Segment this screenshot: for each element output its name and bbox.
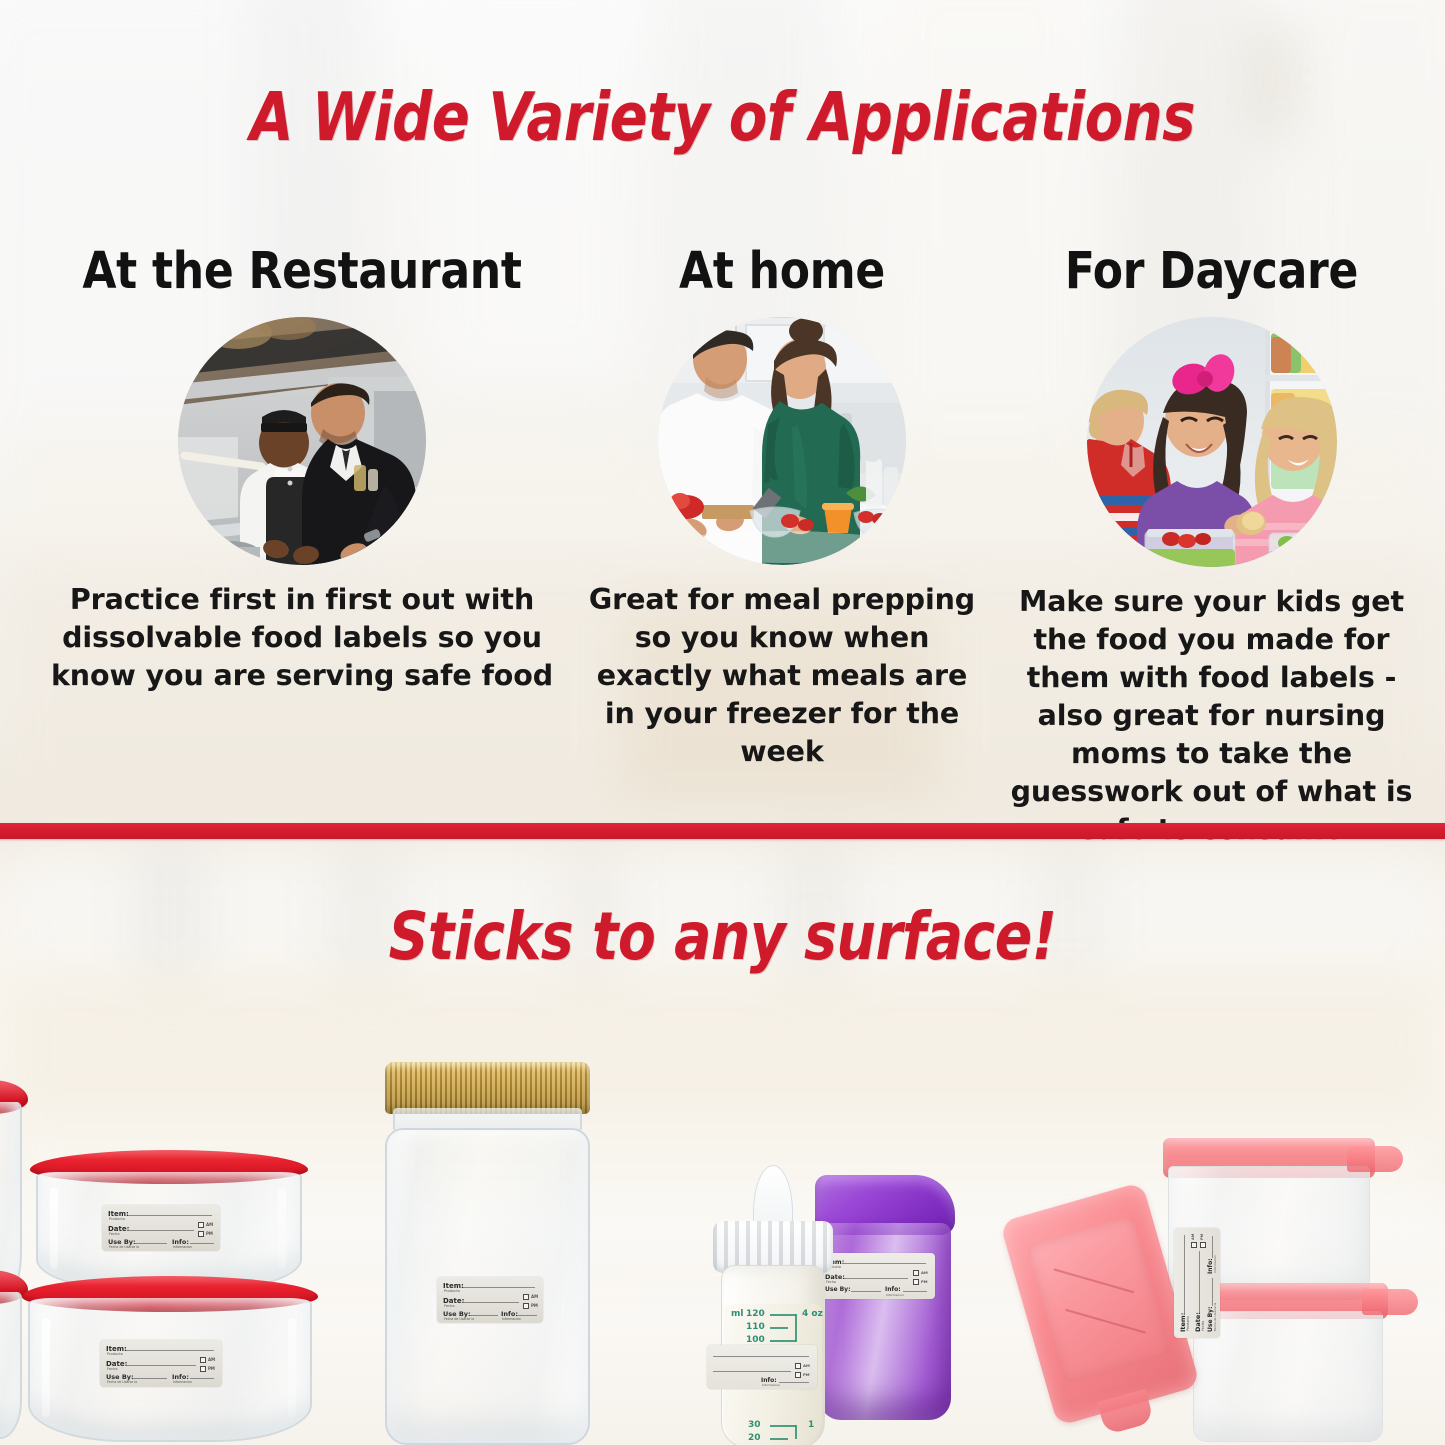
food-label-sticker: AM PM Info: Informacion	[707, 1345, 817, 1389]
sticker-date-sub: Fecha	[107, 1368, 118, 1372]
sticker-info-sub: Informacion	[886, 1294, 904, 1297]
lid-inner-panel	[1026, 1216, 1171, 1385]
photo-restaurant-kitchen	[178, 317, 426, 565]
sticker-pm-checkbox	[523, 1303, 529, 1309]
sticker-info-sub: Informacion	[173, 1246, 192, 1249]
sticker-am-checkbox	[523, 1294, 529, 1300]
sticker-date-sub: Fecha	[109, 1233, 120, 1237]
food-label-sticker: Item: Producto Date: Fecha AM PM Use By:…	[819, 1253, 935, 1299]
page-title: A Wide Variety of Applications	[51, 78, 1395, 156]
sticker-item-sub: Producto	[109, 1218, 125, 1222]
column-heading-daycare: For Daycare	[1008, 243, 1416, 301]
product-infographic-page: A Wide Variety of Applications At the Re…	[0, 0, 1445, 1445]
column-body-home: Great for meal prepping so you know when…	[582, 581, 982, 771]
applications-columns: At the Restaurant	[0, 243, 1445, 803]
purple-sippy-cup: Item: Producto Date: Fecha AM PM Use By:…	[815, 1175, 955, 1420]
product-showcase: Item: Producto Date: Fecha AM PM Use By:…	[0, 1020, 1445, 1445]
column-heading-restaurant: At the Restaurant	[52, 243, 551, 301]
plastic-body-bottom	[1193, 1311, 1383, 1442]
bottle-mark-110: 110	[746, 1323, 765, 1332]
sticker-useby-sub: Fecha de Usarse la	[109, 1246, 139, 1249]
food-label-sticker-rotated: Item: Producto Date: Fecha AM PM Use By:…	[1174, 1228, 1220, 1338]
column-heading-home: At home	[590, 243, 974, 301]
sticker-date-sub: Fecha	[444, 1305, 455, 1309]
lid-tab-bottom	[1362, 1289, 1418, 1315]
sticker-pm-label: PM	[208, 1367, 215, 1371]
sticker-pm-label: PM	[803, 1373, 810, 1377]
bottle-oz-label: 4 oz	[802, 1310, 823, 1319]
photo-couple-cooking	[658, 317, 906, 565]
bottle-lower-oz: 1	[808, 1421, 814, 1430]
sticker-useby-sub: Fecha de Usarse la	[1214, 1303, 1217, 1331]
food-label-sticker: Item: Producto Date: Fecha AM PM Use By:…	[437, 1277, 543, 1323]
sticker-item-sub: Producto	[444, 1290, 460, 1294]
application-column-daycare: For Daycare	[999, 243, 1424, 849]
food-label-sticker: Item: Producto Date: Fecha AM PM Use By:…	[100, 1340, 222, 1387]
sticker-am-label: AM	[803, 1364, 810, 1368]
sticker-pm-checkbox	[795, 1372, 801, 1378]
sticker-pm-label: PM	[531, 1304, 538, 1308]
sticker-am-checkbox	[198, 1222, 204, 1228]
section-two-title: Sticks to any surface!	[51, 898, 1395, 975]
sticker-useby-sub: Fecha de Usarse la	[107, 1381, 137, 1384]
sticker-am-label: AM	[531, 1295, 538, 1299]
sticker-info-sub: Informacion	[762, 1384, 780, 1387]
square-mason-jar: Item: Producto Date: Fecha AM PM Use By:…	[385, 1062, 590, 1445]
sticker-am-label: AM	[1192, 1234, 1196, 1240]
application-column-restaurant: At the Restaurant	[42, 243, 562, 695]
sticker-am-checkbox	[913, 1270, 919, 1276]
bottle-mark-100: 100	[746, 1336, 765, 1345]
sticker-am-checkbox	[1191, 1242, 1197, 1248]
lid-tab-top	[1347, 1146, 1403, 1172]
sticker-am-checkbox	[795, 1363, 801, 1369]
sticker-item-sub: Producto	[1187, 1316, 1190, 1331]
photo-children-lunch	[1087, 317, 1337, 567]
sticker-am-label: AM	[208, 1358, 215, 1362]
bottle-mark-120: 120	[746, 1310, 765, 1319]
sticker-pm-checkbox	[200, 1366, 206, 1372]
sticker-am-label: AM	[921, 1271, 928, 1275]
food-label-sticker: Item: Producto Date: Fecha AM PM Use By:…	[102, 1205, 220, 1251]
sticker-pm-checkbox	[1200, 1242, 1206, 1248]
sticker-am-label: AM	[206, 1223, 213, 1227]
glass-round-container-bottom: Item: Producto Date: Fecha AM PM Use By:…	[22, 1276, 318, 1445]
bottle-mark-30: 30	[748, 1421, 761, 1430]
column-body-restaurant: Practice first in first out with dissolv…	[42, 581, 562, 695]
sticker-pm-checkbox	[913, 1279, 919, 1285]
sticker-date-sub: Fecha	[1202, 1321, 1205, 1331]
sticker-info-sub: Informacion	[502, 1318, 521, 1321]
application-column-home: At home	[582, 243, 982, 771]
sticker-pm-label: PM	[921, 1280, 928, 1284]
baby-bottle: ml 120 110 100 ml 4 oz 30 20 1	[713, 1165, 833, 1445]
sticker-useby-sub: Fecha de Usarse la	[444, 1318, 474, 1321]
sticker-pm-label: PM	[1201, 1234, 1205, 1240]
sticker-item-sub: Producto	[107, 1353, 123, 1357]
sticker-info-sub: Informacion	[1214, 1255, 1217, 1273]
bottle-mark-20: 20	[748, 1434, 761, 1443]
gold-jar-lid	[385, 1062, 590, 1114]
sticker-am-checkbox	[200, 1357, 206, 1363]
sticker-info-sub: Informacion	[173, 1381, 192, 1384]
glass-round-container-top: Item: Producto Date: Fecha AM PM Use By:…	[30, 1150, 308, 1296]
sticker-pm-checkbox	[198, 1231, 204, 1237]
bottle-unit-ml: ml	[731, 1310, 743, 1319]
section-divider-bar	[0, 823, 1445, 839]
column-body-daycare: Make sure your kids get the food you mad…	[999, 583, 1424, 849]
sticker-pm-label: PM	[206, 1232, 213, 1236]
